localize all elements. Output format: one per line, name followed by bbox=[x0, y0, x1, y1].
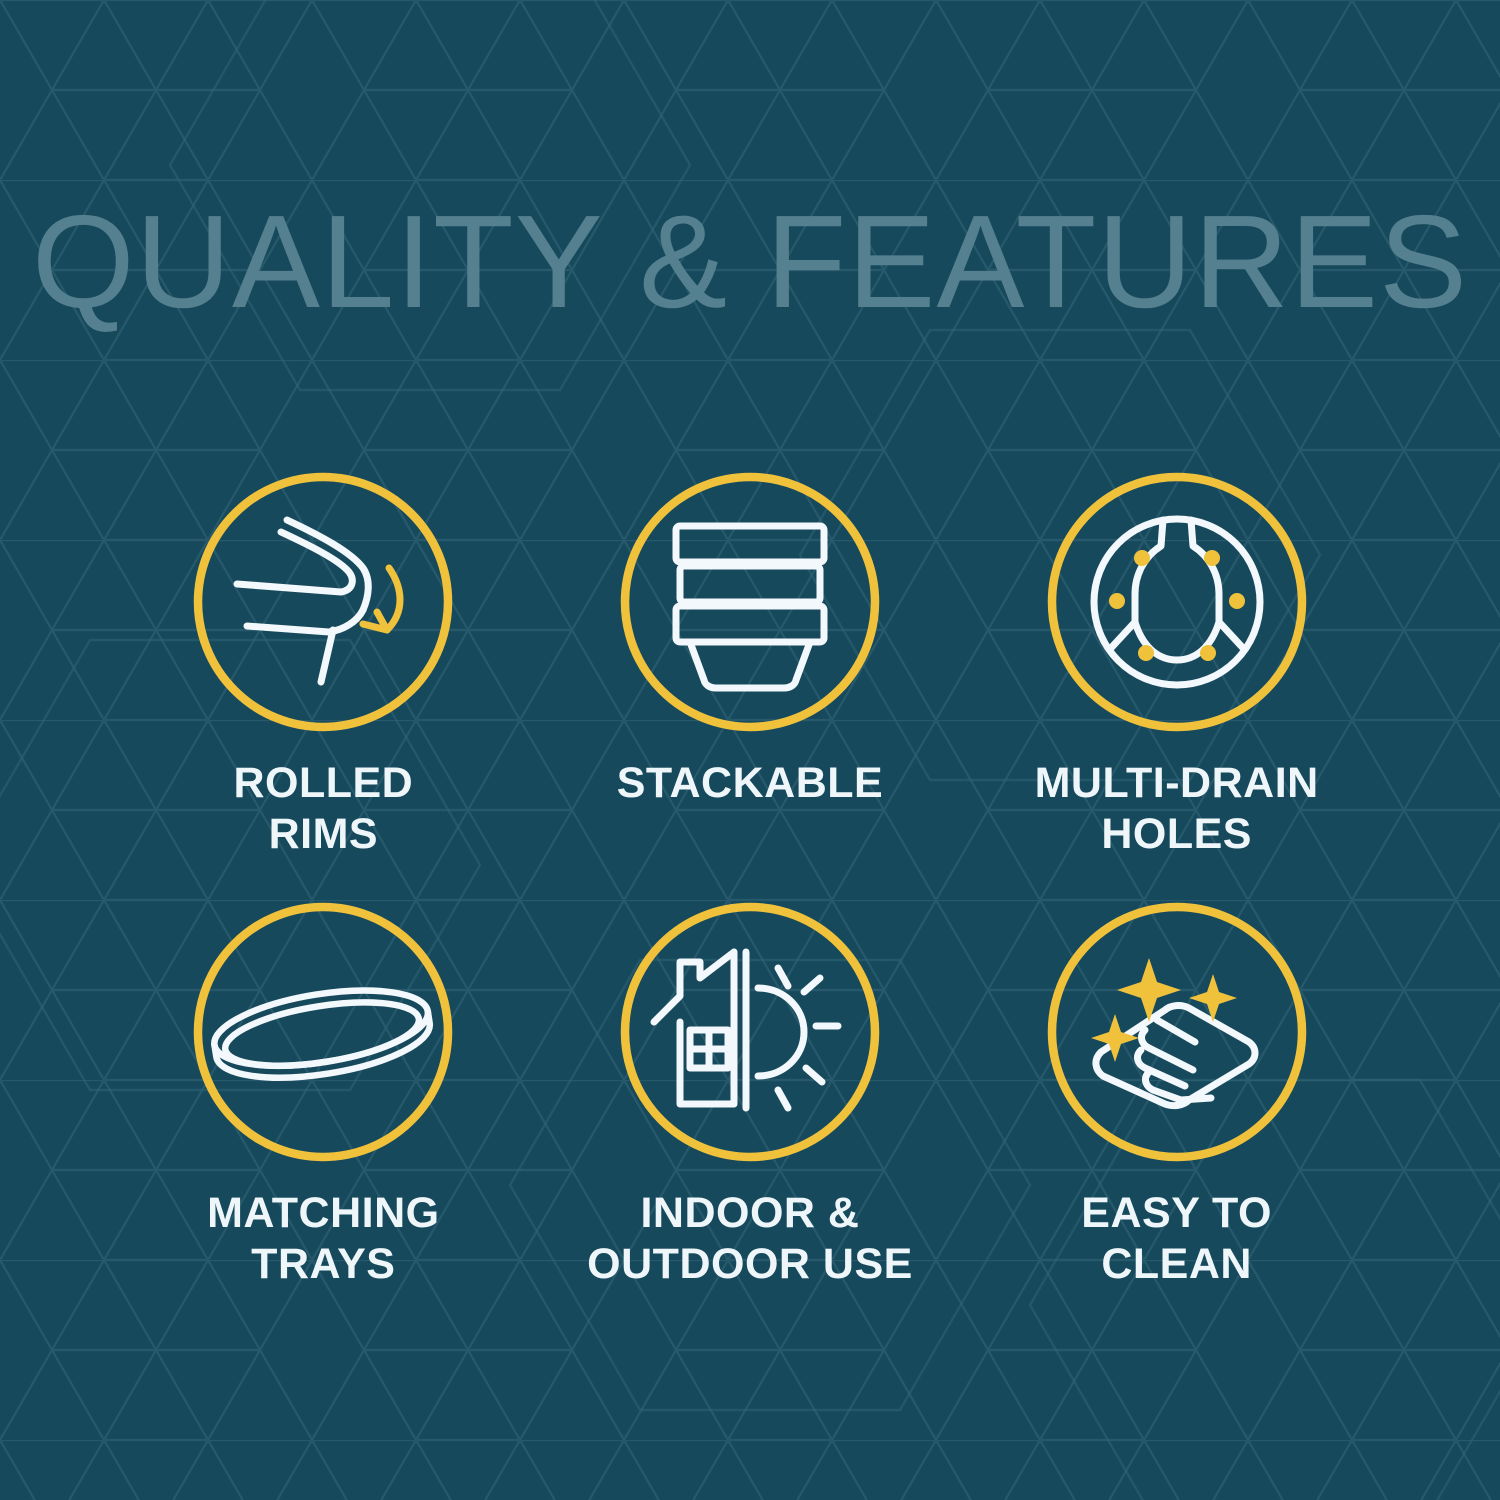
rolled-rim-icon bbox=[191, 470, 455, 734]
feature-grid: ROLLED RIMS STACKABLE bbox=[110, 470, 1390, 1330]
feature-item-rolled-rims[interactable]: ROLLED RIMS bbox=[110, 470, 537, 900]
feature-item-multi-drain-holes[interactable]: MULTI-DRAIN HOLES bbox=[963, 470, 1390, 900]
house-sun-icon bbox=[618, 900, 882, 1164]
feature-label: MULTI-DRAIN HOLES bbox=[1035, 758, 1319, 860]
hand-wipe-sparkle-icon bbox=[1045, 900, 1309, 1164]
feature-item-stackable[interactable]: STACKABLE bbox=[537, 470, 964, 900]
feature-label: EASY TO CLEAN bbox=[1081, 1188, 1272, 1290]
feature-item-easy-to-clean[interactable]: EASY TO CLEAN bbox=[963, 900, 1390, 1330]
feature-label: ROLLED RIMS bbox=[233, 758, 413, 860]
drain-holes-icon bbox=[1045, 470, 1309, 734]
feature-item-matching-trays[interactable]: MATCHING TRAYS bbox=[110, 900, 537, 1330]
stacked-pots-icon bbox=[618, 470, 882, 734]
feature-item-indoor-outdoor-use[interactable]: INDOOR & OUTDOOR USE bbox=[537, 900, 964, 1330]
tray-saucer-icon bbox=[191, 900, 455, 1164]
feature-label: MATCHING TRAYS bbox=[207, 1188, 440, 1290]
feature-label: STACKABLE bbox=[617, 758, 883, 809]
feature-infographic: QUALITY & FEATURES ROLLED RIMS bbox=[0, 0, 1500, 1500]
page-title: QUALITY & FEATURES bbox=[0, 196, 1500, 328]
feature-label: INDOOR & OUTDOOR USE bbox=[587, 1188, 913, 1290]
